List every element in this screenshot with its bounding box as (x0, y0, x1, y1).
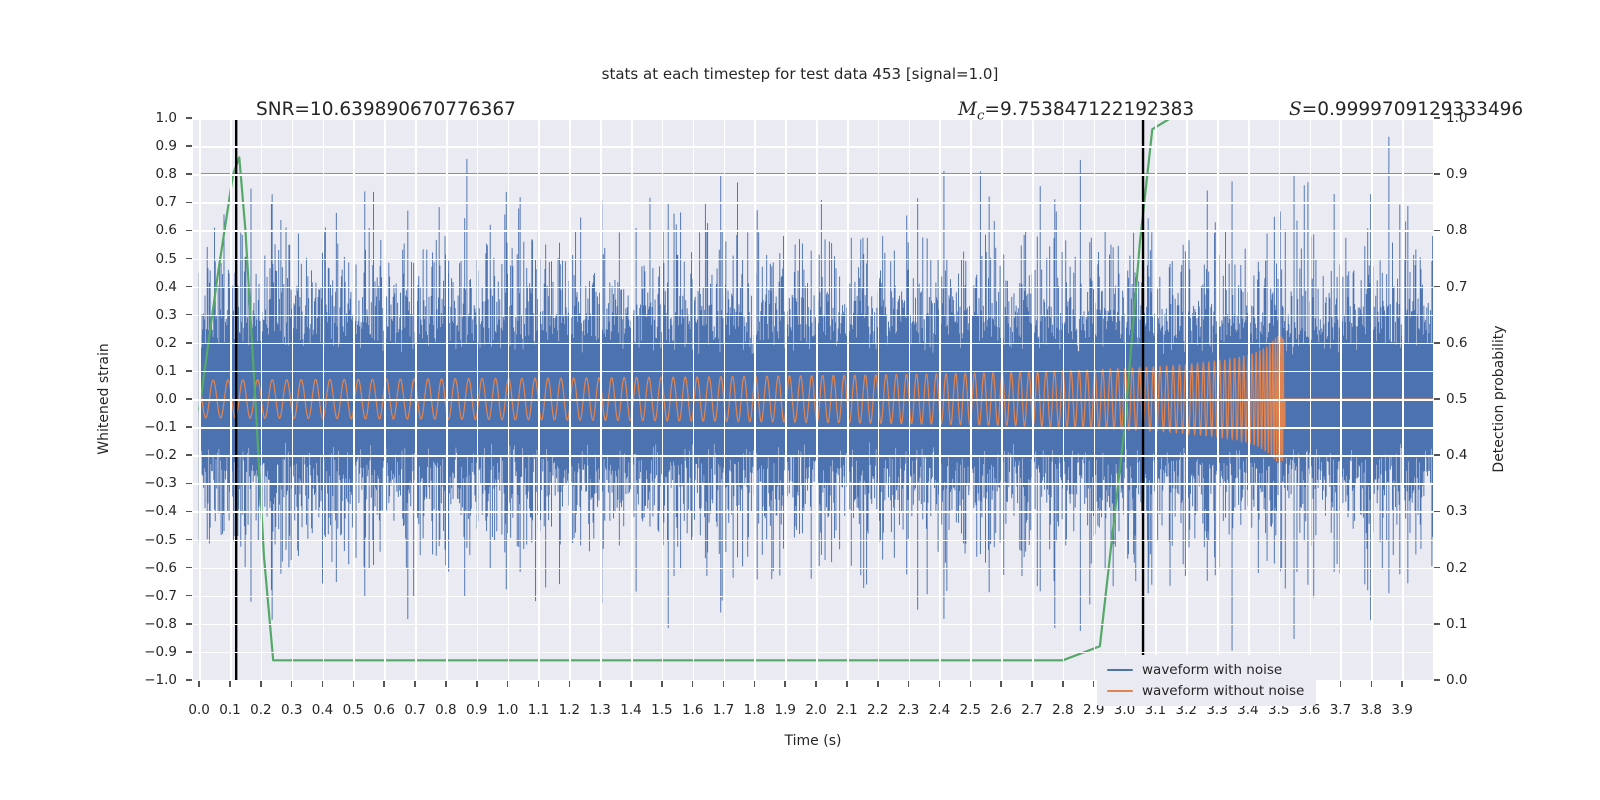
x-tick-label: 1.9 (774, 702, 795, 718)
gridline-v (1094, 118, 1096, 680)
gridline-v (1217, 118, 1219, 680)
annotation-chirp-mass: Mc=9.753847122192383 (958, 99, 1194, 124)
gridline-v (323, 118, 325, 680)
x-tick-label: 2.4 (929, 702, 950, 718)
y-tick-label: 1.0 (113, 110, 177, 126)
x-tick-label: 1.5 (651, 702, 672, 718)
x-axis-label: Time (s) (785, 733, 842, 749)
x-tick-label: 3.7 (1330, 702, 1351, 718)
x-tick-label: 3.9 (1391, 702, 1412, 718)
x-tick-label: 2.3 (898, 702, 919, 718)
legend-item-waveform-with-noise: waveform with noise (1107, 662, 1304, 678)
y-tick-mark (186, 454, 192, 456)
x-tick-label: 1.1 (528, 702, 549, 718)
x-tick-label: 2.6 (990, 702, 1011, 718)
x-tick-mark (445, 681, 447, 687)
y2-tick-mark (1434, 679, 1440, 681)
y-tick-label: −0.1 (113, 419, 177, 435)
y-tick-label: 0.3 (113, 307, 177, 323)
x-tick-mark (1093, 681, 1095, 687)
gridline-v (1371, 118, 1373, 680)
y2-axis-label: Detection probability (1491, 325, 1507, 472)
y-tick-label: 0.7 (113, 194, 177, 210)
y-tick-label: −0.7 (113, 588, 177, 604)
figure-canvas: stats at each timestep for test data 453… (0, 0, 1600, 800)
annotation-mc-value: 9.753847122192383 (1000, 99, 1194, 120)
x-tick-mark (260, 681, 262, 687)
x-tick-mark (970, 681, 972, 687)
y2-tick-mark (1434, 511, 1440, 513)
x-tick-mark (414, 681, 416, 687)
x-tick-label: 0.4 (312, 702, 333, 718)
x-tick-mark (198, 681, 200, 687)
x-tick-label: 1.2 (559, 702, 580, 718)
gridline-v (1248, 118, 1250, 680)
x-tick-mark (846, 681, 848, 687)
x-tick-mark (569, 681, 571, 687)
x-tick-mark (599, 681, 601, 687)
gridline-v (1063, 118, 1065, 680)
gridline-v (384, 118, 386, 680)
y-tick-mark (186, 173, 192, 175)
x-tick-label: 1.4 (620, 702, 641, 718)
x-tick-mark (1340, 681, 1342, 687)
x-tick-mark (476, 681, 478, 687)
y-tick-label: −0.5 (113, 532, 177, 548)
y2-tick-mark (1434, 454, 1440, 456)
x-tick-mark (784, 681, 786, 687)
gridline-v (230, 118, 232, 680)
y-tick-label: −0.4 (113, 503, 177, 519)
y-tick-mark (186, 623, 192, 625)
x-tick-label: 1.0 (497, 702, 518, 718)
y-tick-label: 0.9 (113, 138, 177, 154)
y-axis-label: Whitened strain (96, 343, 112, 454)
y-tick-label: 0.0 (113, 391, 177, 407)
gridline-v (1155, 118, 1157, 680)
x-tick-label: 1.7 (713, 702, 734, 718)
x-tick-label: 0.0 (188, 702, 209, 718)
y-tick-label: −0.8 (113, 616, 177, 632)
gridline-v (909, 118, 911, 680)
x-tick-mark (1031, 681, 1033, 687)
x-tick-mark (908, 681, 910, 687)
y-tick-mark (186, 426, 192, 428)
y2-tick-mark (1434, 286, 1440, 288)
x-tick-label: 2.1 (836, 702, 857, 718)
gridline-v (1001, 118, 1003, 680)
y2-tick-mark (1434, 173, 1440, 175)
x-tick-mark (754, 681, 756, 687)
y-tick-mark (186, 539, 192, 541)
x-tick-label: 0.3 (281, 702, 302, 718)
annotation-signal-score: S=0.9999709129333496 (1289, 99, 1523, 120)
y-tick-mark (186, 230, 192, 232)
gridline-v (292, 118, 294, 680)
x-tick-label: 1.8 (744, 702, 765, 718)
x-tick-label: 2.5 (960, 702, 981, 718)
gridline-v (631, 118, 633, 680)
x-tick-label: 0.6 (373, 702, 394, 718)
x-tick-mark (1401, 681, 1403, 687)
y2-tick-mark (1434, 567, 1440, 569)
legend-swatch-blue (1107, 669, 1133, 672)
gridline-v (415, 118, 417, 680)
gridline-v (1186, 118, 1188, 680)
x-tick-mark (291, 681, 293, 687)
x-tick-mark (661, 681, 663, 687)
y-tick-mark (186, 145, 192, 147)
x-tick-label: 0.9 (466, 702, 487, 718)
y2-tick-label: 0.3 (1446, 503, 1506, 519)
gridline-v (353, 118, 355, 680)
gridline-v (477, 118, 479, 680)
y-tick-mark (186, 567, 192, 569)
gridline-v (754, 118, 756, 680)
x-tick-label: 2.2 (867, 702, 888, 718)
y-tick-mark (186, 511, 192, 513)
gridline-v (199, 118, 201, 680)
legend-label: waveform with noise (1142, 662, 1282, 678)
y-tick-mark (186, 117, 192, 119)
gridline-v (785, 118, 787, 680)
y2-tick-mark (1434, 342, 1440, 344)
gridline-v (538, 118, 540, 680)
y-tick-label: 0.5 (113, 251, 177, 267)
x-tick-mark (723, 681, 725, 687)
y2-tick-label: 0.0 (1446, 672, 1506, 688)
gridline-v (847, 118, 849, 680)
gridline-v (1310, 118, 1312, 680)
plot-area (193, 118, 1433, 680)
gridline-v (724, 118, 726, 680)
legend-item-waveform-without-noise: waveform without noise (1107, 683, 1304, 699)
gridline-v (600, 118, 602, 680)
y-tick-label: −0.3 (113, 475, 177, 491)
legend-label: waveform without noise (1142, 683, 1304, 699)
x-tick-label: 0.7 (404, 702, 425, 718)
y-tick-label: −0.6 (113, 560, 177, 576)
x-tick-label: 2.0 (805, 702, 826, 718)
x-tick-label: 0.5 (343, 702, 364, 718)
y-tick-label: −1.0 (113, 672, 177, 688)
legend-swatch-orange (1107, 690, 1133, 693)
y-tick-label: 0.2 (113, 335, 177, 351)
x-tick-mark (383, 681, 385, 687)
y-tick-label: 0.1 (113, 363, 177, 379)
x-tick-mark (1371, 681, 1373, 687)
y-tick-mark (186, 286, 192, 288)
annotation-s-symbol: S (1289, 99, 1302, 120)
y-tick-label: 0.8 (113, 166, 177, 182)
gridline-v (1402, 118, 1404, 680)
y-tick-mark (186, 651, 192, 653)
annotation-s-value: 0.9999709129333496 (1317, 99, 1523, 120)
x-tick-mark (1062, 681, 1064, 687)
annotation-mc-eq: = (984, 99, 1000, 120)
x-tick-mark (877, 681, 879, 687)
y2-tick-label: 0.7 (1446, 279, 1506, 295)
y2-tick-label: 0.8 (1446, 222, 1506, 238)
y-tick-mark (186, 202, 192, 204)
y2-tick-mark (1434, 623, 1440, 625)
y2-tick-label: 0.1 (1446, 616, 1506, 632)
x-tick-label: 1.6 (682, 702, 703, 718)
page-title: stats at each timestep for test data 453… (0, 65, 1600, 83)
gridline-v (662, 118, 664, 680)
x-tick-mark (815, 681, 817, 687)
x-tick-mark (630, 681, 632, 687)
annotation-snr: SNR=10.639890670776367 (256, 99, 516, 120)
gridline-v (1125, 118, 1127, 680)
x-tick-mark (507, 681, 509, 687)
y-tick-mark (186, 679, 192, 681)
y2-tick-label: 0.2 (1446, 560, 1506, 576)
gridline-v (878, 118, 880, 680)
annotation-mc-symbol: M (958, 99, 977, 120)
x-tick-mark (692, 681, 694, 687)
y-tick-mark (186, 595, 192, 597)
gridline-v (261, 118, 263, 680)
y-tick-mark (186, 258, 192, 260)
y-tick-label: −0.2 (113, 447, 177, 463)
gridline-v (508, 118, 510, 680)
y2-tick-label: 0.9 (1446, 166, 1506, 182)
gridline-v (446, 118, 448, 680)
y-tick-mark (186, 342, 192, 344)
x-tick-mark (538, 681, 540, 687)
gridline-v (693, 118, 695, 680)
gridline-v (970, 118, 972, 680)
x-tick-label: 3.8 (1361, 702, 1382, 718)
y-tick-label: 0.6 (113, 222, 177, 238)
gridline-v (1032, 118, 1034, 680)
x-tick-label: 0.8 (435, 702, 456, 718)
y-tick-mark (186, 483, 192, 485)
gridline-v (569, 118, 571, 680)
annotation-s-eq: = (1302, 99, 1318, 120)
gridline-v (816, 118, 818, 680)
y-tick-mark (186, 370, 192, 372)
gridline-v (1279, 118, 1281, 680)
x-tick-mark (322, 681, 324, 687)
y-tick-label: 0.4 (113, 279, 177, 295)
x-tick-label: 0.1 (219, 702, 240, 718)
x-tick-mark (353, 681, 355, 687)
x-tick-mark (1000, 681, 1002, 687)
x-tick-label: 1.3 (589, 702, 610, 718)
x-tick-mark (229, 681, 231, 687)
y2-tick-mark (1434, 230, 1440, 232)
gridline-v (1340, 118, 1342, 680)
legend: waveform with noise waveform without noi… (1097, 655, 1316, 706)
x-tick-label: 2.8 (1052, 702, 1073, 718)
annotation-snr-text: SNR=10.639890670776367 (256, 99, 516, 120)
y-tick-mark (186, 398, 192, 400)
gridline-v (939, 118, 941, 680)
x-tick-label: 2.7 (1021, 702, 1042, 718)
y-tick-mark (186, 314, 192, 316)
x-tick-mark (939, 681, 941, 687)
y2-tick-mark (1434, 398, 1440, 400)
x-tick-label: 0.2 (250, 702, 271, 718)
y-tick-label: −0.9 (113, 644, 177, 660)
